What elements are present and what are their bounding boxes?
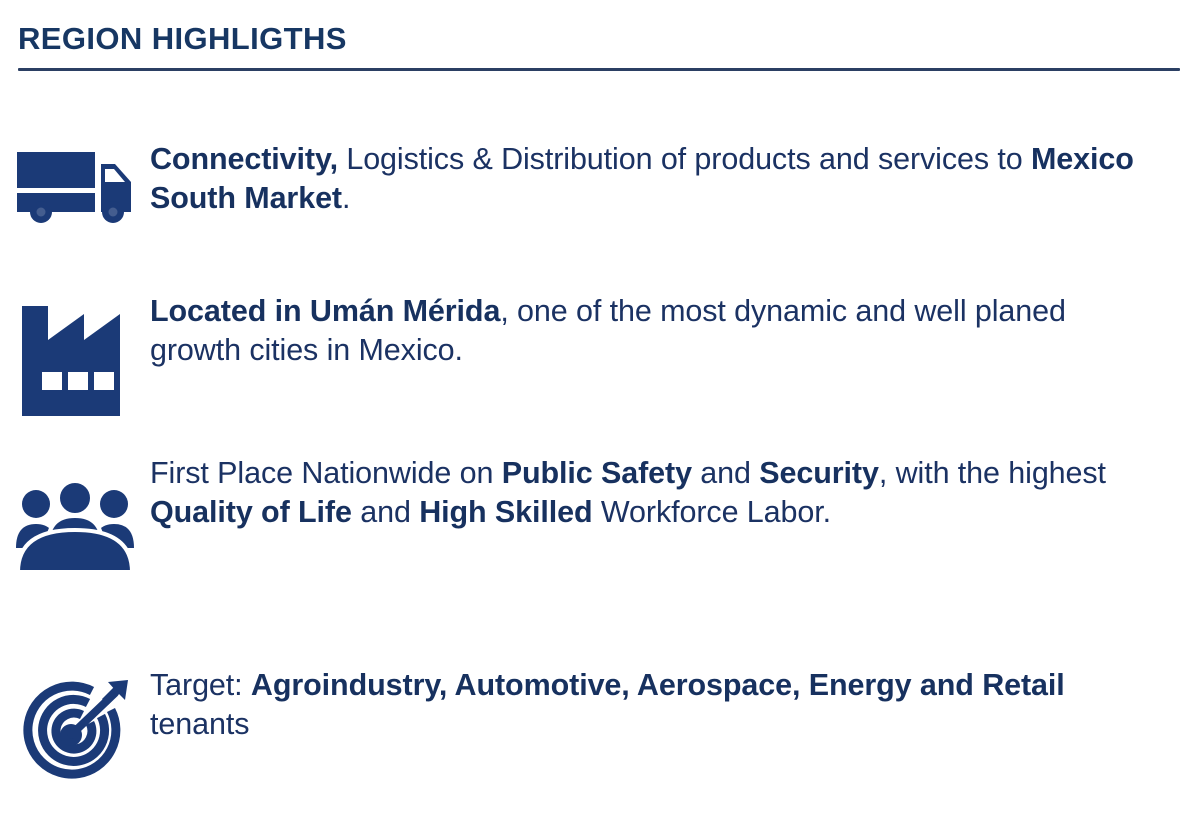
list-item-text: First Place Nationwide on Public Safety … xyxy=(150,454,1200,531)
page-title: REGION HIGHLIGTHS xyxy=(18,22,1182,56)
people-group-icon xyxy=(14,482,136,574)
header: REGION HIGHLIGTHS xyxy=(18,22,1182,71)
truck-icon xyxy=(15,148,135,224)
region-highlights-slide: REGION HIGHLIGTHS xyxy=(0,0,1200,831)
factory-icon-wrap xyxy=(0,286,150,418)
list-item: Located in Umán Mérida, one of the most … xyxy=(0,286,1200,454)
list-item: Connectivity, Logistics & Distribution o… xyxy=(0,126,1200,286)
target-icon-wrap xyxy=(0,664,150,790)
header-divider xyxy=(18,68,1180,71)
factory-icon xyxy=(16,298,134,418)
list-item: First Place Nationwide on Public Safety … xyxy=(0,454,1200,664)
list-item-text: Connectivity, Logistics & Distribution o… xyxy=(150,126,1200,217)
people-group-icon-wrap xyxy=(0,454,150,574)
list-item-text: Target: Agroindustry, Automotive, Aerosp… xyxy=(150,664,1200,743)
list-item: Target: Agroindustry, Automotive, Aerosp… xyxy=(0,664,1200,804)
list-item-text: Located in Umán Mérida, one of the most … xyxy=(150,286,1200,369)
truck-icon-wrap xyxy=(0,126,150,224)
target-icon xyxy=(16,672,134,790)
highlights-list: Connectivity, Logistics & Distribution o… xyxy=(0,126,1200,804)
